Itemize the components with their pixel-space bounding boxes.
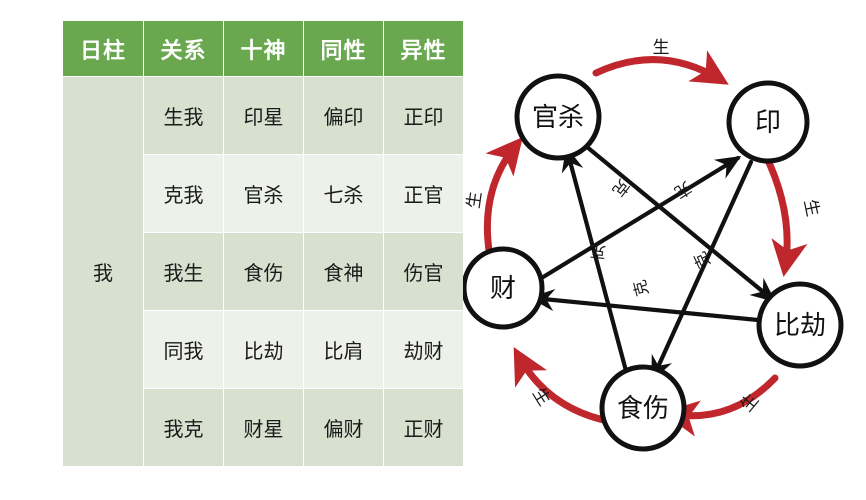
cell-diff-polarity: 伤官 [384,233,464,311]
wuxing-cycle-diagram: 官杀 印 比劫 食伤 财 [463,10,866,490]
sheng-arrow-guansha-to-yin [596,60,721,80]
column-header-guan-xi: 关系 [144,21,224,77]
node-yin[interactable]: 印 [729,83,807,161]
cell-diff-polarity: 正财 [384,389,464,467]
sheng-label-left-lower: 生 [528,384,554,409]
cell-ten-god: 印星 [224,77,304,155]
me-cell: 我 [63,77,144,467]
sheng-label-right-upper: 生 [799,198,822,219]
node-bijie[interactable]: 比劫 [759,284,841,366]
cell-ten-god: 官杀 [224,155,304,233]
node-label-bijie: 比劫 [774,311,826,341]
node-shishang[interactable]: 食伤 [602,367,684,449]
ke-label-bijie-cai: 克 [589,242,607,263]
table-body: 我 生我 印星 偏印 正印 克我 官杀 七杀 正官 我生 食伤 食神 伤官 [63,77,464,467]
sheng-label-top: 生 [653,38,670,58]
sheng-arrow-yin-to-bijie [765,154,787,268]
cell-diff-polarity: 正官 [384,155,464,233]
ke-arrow-bijie-to-cai [533,298,758,320]
cell-relation: 同我 [144,311,224,389]
cell-ten-god: 食伤 [224,233,304,311]
sheng-label-left-upper: 生 [464,190,486,210]
sheng-arrow-shishang-to-cai [518,355,613,422]
node-label-shishang: 食伤 [617,394,669,424]
page-root: 日柱 关系 十神 同性 异性 我 生我 印星 偏印 正印 克我 官杀 [0,0,866,500]
cell-diff-polarity: 正印 [384,77,464,155]
table-header-row: 日柱 关系 十神 同性 异性 [63,21,464,77]
table-header: 日柱 关系 十神 同性 异性 [63,21,464,77]
node-cai[interactable]: 财 [464,249,542,327]
column-header-tong-xing: 同性 [304,21,384,77]
cell-relation: 我生 [144,233,224,311]
column-header-shi-shen: 十神 [224,21,304,77]
cell-same-polarity: 偏财 [304,389,384,467]
cell-relation: 克我 [144,155,224,233]
cell-same-polarity: 偏印 [304,77,384,155]
column-header-yi-xing: 异性 [384,21,464,77]
cell-relation: 生我 [144,77,224,155]
sheng-arrow-bijie-to-shishang [671,378,775,416]
ke-label-shishang-guansha: 克 [630,278,652,298]
cell-same-polarity: 比肩 [304,311,384,389]
node-label-guansha: 官杀 [532,103,584,133]
cell-ten-god: 比劫 [224,311,304,389]
cell-same-polarity: 七杀 [304,155,384,233]
table-row: 我 生我 印星 偏印 正印 [63,77,464,155]
cell-same-polarity: 食神 [304,233,384,311]
node-guansha[interactable]: 官杀 [517,76,599,158]
ten-gods-table-container: 日柱 关系 十神 同性 异性 我 生我 印星 偏印 正印 克我 官杀 [62,20,463,460]
node-label-cai: 财 [490,274,516,304]
sheng-arrow-cai-to-guansha [487,144,517,262]
ke-pentagram-arrows [533,147,773,382]
node-label-yin: 印 [755,108,781,138]
column-header-ri-zhu: 日柱 [63,21,144,77]
ten-gods-table: 日柱 关系 十神 同性 异性 我 生我 印星 偏印 正印 克我 官杀 [62,20,464,467]
cell-diff-polarity: 劫财 [384,311,464,389]
cell-relation: 我克 [144,389,224,467]
cell-ten-god: 财星 [224,389,304,467]
